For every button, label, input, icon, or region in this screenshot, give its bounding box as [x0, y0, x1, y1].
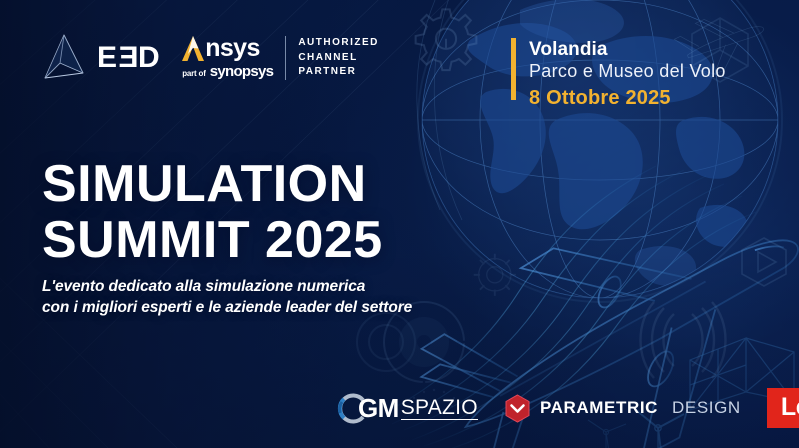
ansys-divider — [285, 36, 286, 80]
poster-canvas: EED nsys part of synopsys AUTHORIZED — [0, 0, 799, 448]
ansys-wordmark: nsys — [205, 37, 260, 61]
sponsor-logo-bar: GM SPAZIO PARAMETRIC DESIGN Lenovo — [336, 388, 799, 428]
header-logo-group: EED nsys part of synopsys AUTHORIZED — [42, 29, 379, 87]
gm-spazio-logo: GM SPAZIO — [336, 393, 478, 424]
page-subtitle-line-2: con i migliori esperti e le aziende lead… — [42, 298, 412, 319]
e3d-tetrahedron-icon — [42, 33, 86, 83]
main-title-block: SIMULATION SUMMIT 2025 L'evento dedicato… — [42, 157, 412, 318]
e3d-letter-d: D — [138, 41, 160, 74]
page-subtitle-line-1: L'evento dedicato alla simulazione numer… — [42, 277, 412, 298]
e3d-logo: EED — [42, 33, 160, 83]
signal-waves-icon — [641, 302, 726, 378]
venue-block: Volandia Parco e Museo del Volo 8 Ottobr… — [511, 38, 726, 110]
e3d-wordmark: EED — [97, 43, 160, 73]
e3d-letter-flipped-e: E — [118, 43, 139, 73]
hexagon-chevron-icon — [504, 394, 531, 423]
page-subtitle: L'evento dedicato alla simulazione numer… — [42, 277, 412, 318]
partner-line-3: PARTNER — [298, 66, 379, 79]
partner-line-2: CHANNEL — [298, 52, 379, 65]
authorized-channel-partner-label: AUTHORIZED CHANNEL PARTNER — [298, 37, 379, 79]
globe-halo — [417, 0, 462, 220]
page-title-line-1: SIMULATION — [42, 157, 412, 213]
gear-icon-small — [474, 254, 516, 296]
parametric-design-logo: PARAMETRIC DESIGN — [504, 394, 741, 423]
event-date: 8 Ottobre 2025 — [529, 86, 726, 110]
ansys-logo: nsys part of synopsys — [182, 36, 273, 80]
gm-wordmark: GM — [358, 395, 399, 421]
turbine-ring-icon — [357, 313, 415, 371]
gm-spazio-suffix: SPAZIO — [401, 397, 478, 420]
partner-line-1: AUTHORIZED — [298, 37, 379, 50]
gear-icon — [416, 9, 477, 70]
page-title-line-2: SUMMIT 2025 — [42, 213, 412, 269]
e3d-letter-e: E — [97, 41, 118, 74]
lenovo-logo: Lenovo — [767, 388, 799, 428]
synopsys-wordmark: synopsys — [210, 63, 274, 80]
lenovo-wordmark: Lenovo — [781, 395, 799, 420]
parametric-wordmark: PARAMETRIC — [540, 398, 658, 418]
ansys-part-of-label: part of — [182, 69, 206, 78]
venue-accent-bar — [511, 38, 516, 100]
venue-name: Volandia — [529, 39, 726, 60]
ansys-partner-logo: nsys part of synopsys AUTHORIZED CHANNEL… — [182, 36, 379, 80]
play-hexagon-icon — [742, 238, 786, 286]
venue-subtitle: Parco e Museo del Volo — [529, 61, 726, 83]
design-suffix: DESIGN — [672, 398, 741, 418]
ansys-a-icon — [182, 36, 204, 61]
